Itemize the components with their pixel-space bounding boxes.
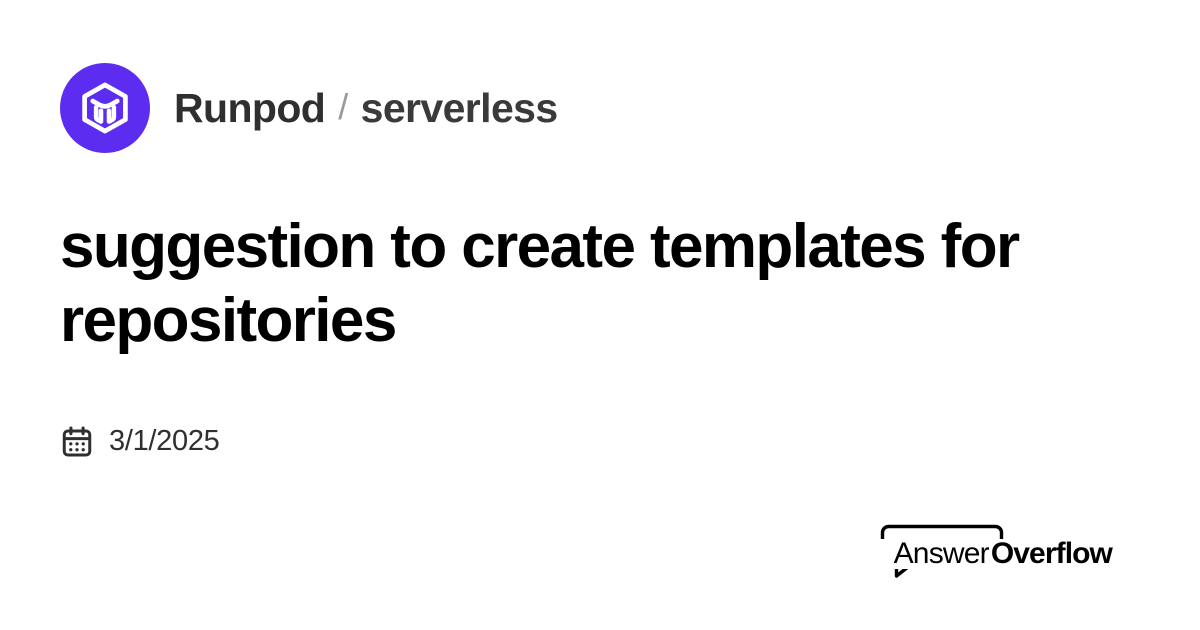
watermark-overflow-text: Overflow: [989, 539, 1112, 569]
runpod-cube-logo-icon: [76, 79, 134, 137]
breadcrumb-channel-name[interactable]: serverless: [361, 88, 558, 129]
breadcrumb: Runpod / serverless: [174, 88, 558, 129]
page-title: suggestion to create templates for repos…: [60, 210, 1070, 359]
breadcrumb-header: Runpod / serverless: [60, 62, 1140, 154]
breadcrumb-separator: /: [338, 89, 347, 125]
calendar-icon: [60, 425, 94, 459]
watermark-answer-text: Answer: [880, 539, 989, 569]
date-text: 3/1/2025: [109, 427, 220, 456]
answer-overflow-logo: Answer Overflow: [880, 522, 1112, 588]
post-date: 3/1/2025: [60, 425, 1140, 459]
og-card: Runpod / serverless suggestion to create…: [0, 0, 1200, 630]
breadcrumb-server-name[interactable]: Runpod: [174, 88, 325, 129]
server-avatar: [60, 63, 150, 153]
